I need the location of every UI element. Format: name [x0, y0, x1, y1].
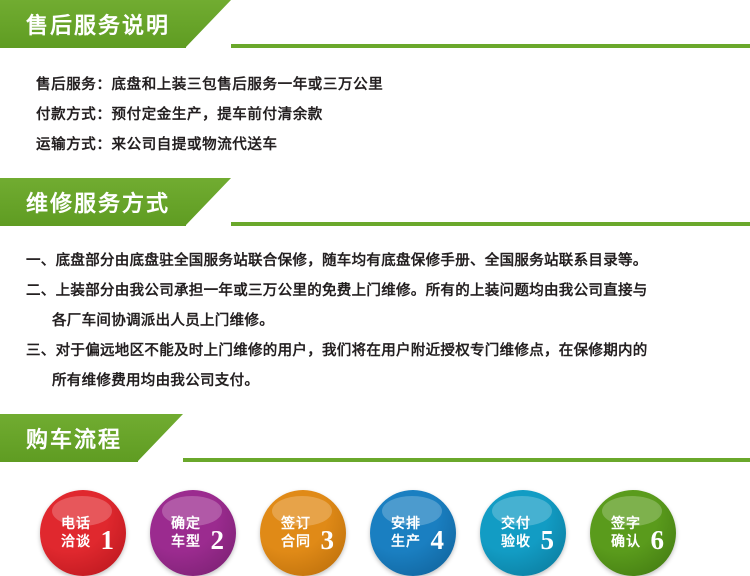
- after-sales-line-3: 运输方式：来公司自提或物流代送车: [36, 130, 750, 160]
- repair-paragraph-1: 一、底盘部分由底盘驻全国服务站联合保修，随车均有底盘保修手册、全国服务站联系目录…: [26, 246, 750, 276]
- process-step-3-label-line1: 签订: [281, 515, 311, 531]
- process-step-4-label-line2: 生产: [391, 533, 421, 549]
- repair-paragraph-3: 三、对于偏远地区不能及时上门维修的用户，我们将在用户附近授权专门维修点，在保修期…: [26, 336, 750, 396]
- process-step-2-label: 确定 车型: [171, 514, 201, 550]
- banner-tail-icon: [185, 178, 231, 226]
- after-sales-line-2: 付款方式：预付定金生产，提车前付清余款: [36, 100, 750, 130]
- process-step-4-number: 4: [431, 527, 445, 554]
- page-root: 售后服务说明 售后服务：底盘和上装三包售后服务一年或三万公里 付款方式：预付定金…: [0, 0, 750, 563]
- process-step-2-number: 2: [211, 527, 225, 554]
- process-step-6-label: 签字 确认: [611, 514, 641, 550]
- process-step-1: 电话 洽谈 1: [40, 490, 126, 576]
- repair-paragraph-3-cont: 所有维修费用均由我公司支付。: [26, 366, 750, 396]
- process-step-2-label-line1: 确定: [171, 515, 201, 531]
- banner-tail-icon: [137, 414, 183, 462]
- after-sales-body: 售后服务：底盘和上装三包售后服务一年或三万公里 付款方式：预付定金生产，提车前付…: [0, 48, 750, 178]
- process-step-1-label-line2: 洽谈: [61, 533, 91, 549]
- process-step-6: 签字 确认 6: [590, 490, 676, 576]
- section-title-repair-service: 维修服务方式: [0, 178, 186, 226]
- banner-rule: [231, 44, 750, 48]
- process-step-1-label-line1: 电话: [61, 515, 91, 531]
- process-step-2: 确定 车型 2: [150, 490, 236, 576]
- process-step-3-label-line2: 合同: [281, 533, 311, 549]
- process-step-1-label: 电话 洽谈: [61, 514, 91, 550]
- process-step-6-label-line1: 签字: [611, 515, 641, 531]
- process-step-5-number: 5: [541, 527, 555, 554]
- section-title-purchase-process: 购车流程: [0, 414, 138, 462]
- section-purchase-process: 购车流程 电话 洽谈 1 确定 车型 2: [0, 414, 750, 576]
- process-step-4: 安排 生产 4: [370, 490, 456, 576]
- section-after-sales: 售后服务说明 售后服务：底盘和上装三包售后服务一年或三万公里 付款方式：预付定金…: [0, 0, 750, 178]
- banner-rule: [231, 222, 750, 226]
- after-sales-line-1: 售后服务：底盘和上装三包售后服务一年或三万公里: [36, 70, 750, 100]
- process-step-2-label-line2: 车型: [171, 533, 201, 549]
- process-step-3: 签订 合同 3: [260, 490, 346, 576]
- section-banner-repair-service: 维修服务方式: [0, 178, 750, 226]
- repair-paragraph-2-cont: 各厂车间协调派出人员上门维修。: [26, 306, 750, 336]
- process-step-5-label: 交付 验收: [501, 514, 531, 550]
- banner-tail-icon: [185, 0, 231, 48]
- repair-paragraph-2: 二、上装部分由我公司承担一年或三万公里的免费上门维修。所有的上装问题均由我公司直…: [26, 276, 750, 336]
- banner-rule: [183, 458, 750, 462]
- process-step-6-number: 6: [651, 527, 665, 554]
- process-step-5: 交付 验收 5: [480, 490, 566, 576]
- repair-paragraph-1-main: 一、底盘部分由底盘驻全国服务站联合保修，随车均有底盘保修手册、全国服务站联系目录…: [26, 253, 648, 269]
- process-step-1-number: 1: [101, 527, 115, 554]
- process-step-4-label-line1: 安排: [391, 515, 421, 531]
- section-banner-after-sales: 售后服务说明: [0, 0, 750, 48]
- repair-service-body: 一、底盘部分由底盘驻全国服务站联合保修，随车均有底盘保修手册、全国服务站联系目录…: [0, 226, 750, 414]
- section-banner-purchase-process: 购车流程: [0, 414, 750, 462]
- repair-paragraph-3-main: 三、对于偏远地区不能及时上门维修的用户，我们将在用户附近授权专门维修点，在保修期…: [26, 343, 648, 359]
- process-step-3-number: 3: [321, 527, 335, 554]
- section-title-after-sales: 售后服务说明: [0, 0, 186, 48]
- process-step-6-label-line2: 确认: [611, 533, 641, 549]
- process-step-3-label: 签订 合同: [281, 514, 311, 550]
- process-steps: 电话 洽谈 1 确定 车型 2 签订 合同 3: [0, 462, 750, 576]
- section-repair-service: 维修服务方式 一、底盘部分由底盘驻全国服务站联合保修，随车均有底盘保修手册、全国…: [0, 178, 750, 414]
- repair-paragraph-2-main: 二、上装部分由我公司承担一年或三万公里的免费上门维修。所有的上装问题均由我公司直…: [26, 283, 648, 299]
- process-step-4-label: 安排 生产: [391, 514, 421, 550]
- process-step-5-label-line2: 验收: [501, 533, 531, 549]
- process-step-5-label-line1: 交付: [501, 515, 531, 531]
